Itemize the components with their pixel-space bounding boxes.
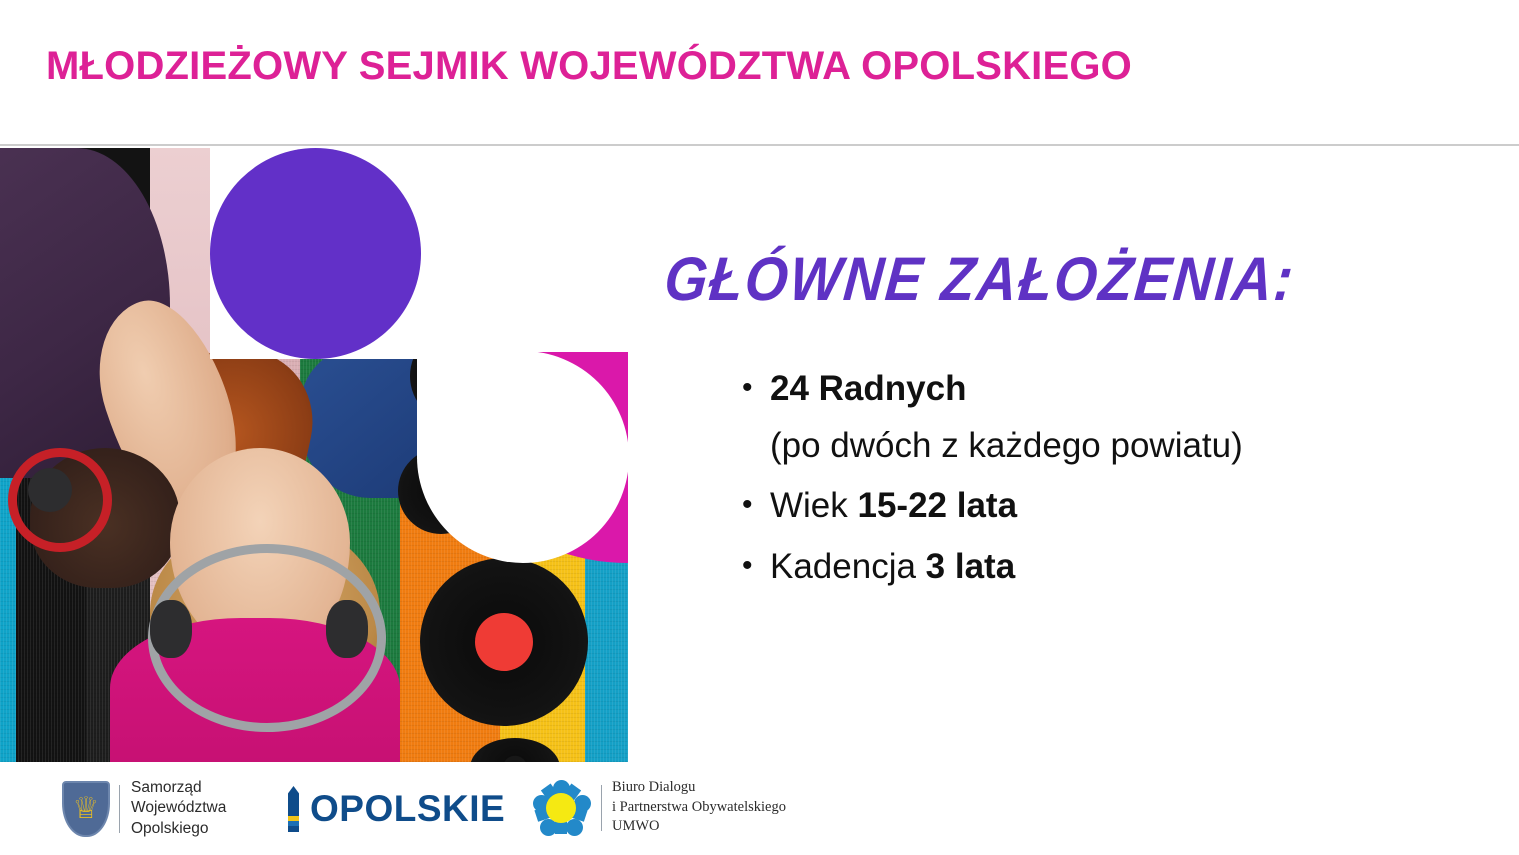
logo-samorzad-line2: Województwa <box>131 798 226 818</box>
headphone-cup-right <box>326 600 368 658</box>
bullet-1-sub: (po dwóch z każdego powiatu) <box>770 425 1440 468</box>
list-item-kadencja: Kadencja 3 lata <box>740 546 1440 589</box>
coat-of-arms-icon: ♕ <box>62 781 110 837</box>
bullet-3-bold: 3 lata <box>926 547 1016 586</box>
logo-samorzad-text: Samorząd Województwa Opolskiego <box>131 778 226 839</box>
title-divider <box>0 144 1519 146</box>
list-item-wiek: Wiek 15-22 lata <box>740 485 1440 528</box>
logo-opolskie: OPOLSKIE <box>285 786 505 832</box>
page-title: MŁODZIEŻOWY SEJMIK WOJEWÓDZTWA OPOLSKIEG… <box>46 44 1346 89</box>
flower-star-icon <box>533 780 589 836</box>
logo-divider <box>119 785 120 833</box>
logo-biuro-text: Biuro Dialogu i Partnerstwa Obywatelskie… <box>612 778 786 837</box>
footer-logo-bar: ♕ Samorząd Województwa Opolskiego OPOLSK… <box>0 772 1519 855</box>
headphone-cup-left <box>150 600 192 658</box>
logo-biuro-line1: Biuro Dialogu <box>612 778 786 798</box>
list-item-radnych: 24 Radnych (po dwóch z każdego powiatu) <box>740 368 1440 467</box>
assumptions-list: 24 Radnych (po dwóch z każdego powiatu) … <box>740 368 1440 607</box>
section-heading: GŁÓWNE ZAŁOŻENIA: <box>662 243 1298 315</box>
bullet-2-prefix: Wiek <box>770 486 858 525</box>
logo-biuro-line2: i Partnerstwa Obywatelskiego <box>612 798 786 818</box>
purple-circle-shape <box>210 148 421 359</box>
logo-biuro-dialogu: Biuro Dialogu i Partnerstwa Obywatelskie… <box>533 778 786 837</box>
presentation-slide: MŁODZIEŻOWY SEJMIK WOJEWÓDZTWA OPOLSKIEG… <box>0 0 1519 855</box>
opolskie-tower-icon <box>285 786 302 832</box>
logo-opolskie-text: OPOLSKIE <box>310 788 505 830</box>
magenta-arc-white-square <box>417 352 524 459</box>
bullet-1-main: 24 Radnych <box>770 369 966 408</box>
logo-samorzad-wojewodztwa-opolskiego: ♕ Samorząd Województwa Opolskiego <box>62 778 226 839</box>
logo-divider <box>601 785 602 831</box>
bullet-3-prefix: Kadencja <box>770 547 926 586</box>
logo-samorzad-line3: Opolskiego <box>131 819 226 839</box>
logo-samorzad-line1: Samorząd <box>131 778 226 798</box>
bullet-2-bold: 15-22 lata <box>858 486 1018 525</box>
headphone-cup-red <box>28 468 72 512</box>
logo-biuro-line3: UMWO <box>612 817 786 837</box>
vinyl-record-main <box>420 558 588 726</box>
